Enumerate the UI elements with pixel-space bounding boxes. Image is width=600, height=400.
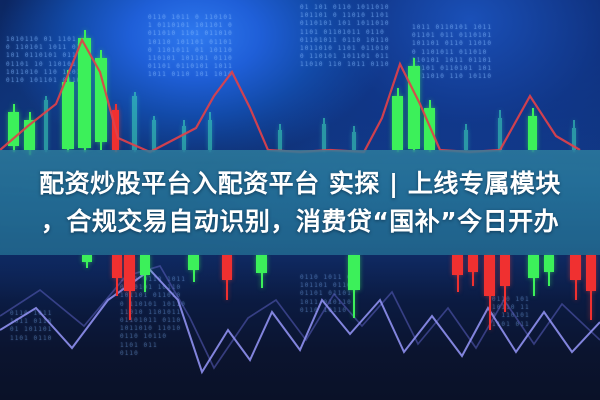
candle-body [452, 255, 463, 275]
candlestick [124, 255, 135, 320]
candlestick [528, 255, 539, 296]
candlestick [112, 255, 122, 296]
candle-body [188, 255, 199, 270]
news-banner-image: 1010110 01 1101 0 110101 1011 01 101 011… [0, 0, 600, 400]
candle-body [500, 255, 510, 286]
candle-body [256, 255, 267, 273]
candlestick [500, 255, 510, 312]
candlestick [586, 255, 596, 320]
candle-body [140, 255, 150, 275]
candle-body [82, 255, 92, 262]
headline-line-2: ，合规交易自动识别，消费贷“国补”今日开办 [41, 203, 559, 241]
candlestick [348, 255, 360, 318]
candle-body [570, 255, 581, 280]
candle-body [112, 255, 122, 278]
candle-body [124, 255, 135, 291]
candlestick [140, 255, 150, 292]
candlestick [452, 255, 463, 292]
candle-body [348, 255, 360, 290]
candlestick [188, 255, 199, 282]
candle-body [222, 255, 232, 280]
candlestick [570, 255, 581, 300]
candle-body [586, 255, 596, 291]
candle-body [528, 255, 539, 278]
candlestick [222, 255, 232, 300]
candlestick [544, 255, 554, 286]
candlestick [256, 255, 267, 288]
candle-body [544, 255, 554, 272]
headline-text: 配资炒股平台入配资平台 实探 | 上线专属模块 ，合规交易自动识别，消费贷“国补… [0, 150, 600, 255]
candle-body [484, 255, 495, 296]
candlestick [468, 255, 478, 286]
headline-line-1: 配资炒股平台入配资平台 实探 | 上线专属模块 [39, 165, 561, 203]
candlestick [82, 255, 92, 268]
candlestick [484, 255, 495, 330]
candle-body [468, 255, 478, 272]
